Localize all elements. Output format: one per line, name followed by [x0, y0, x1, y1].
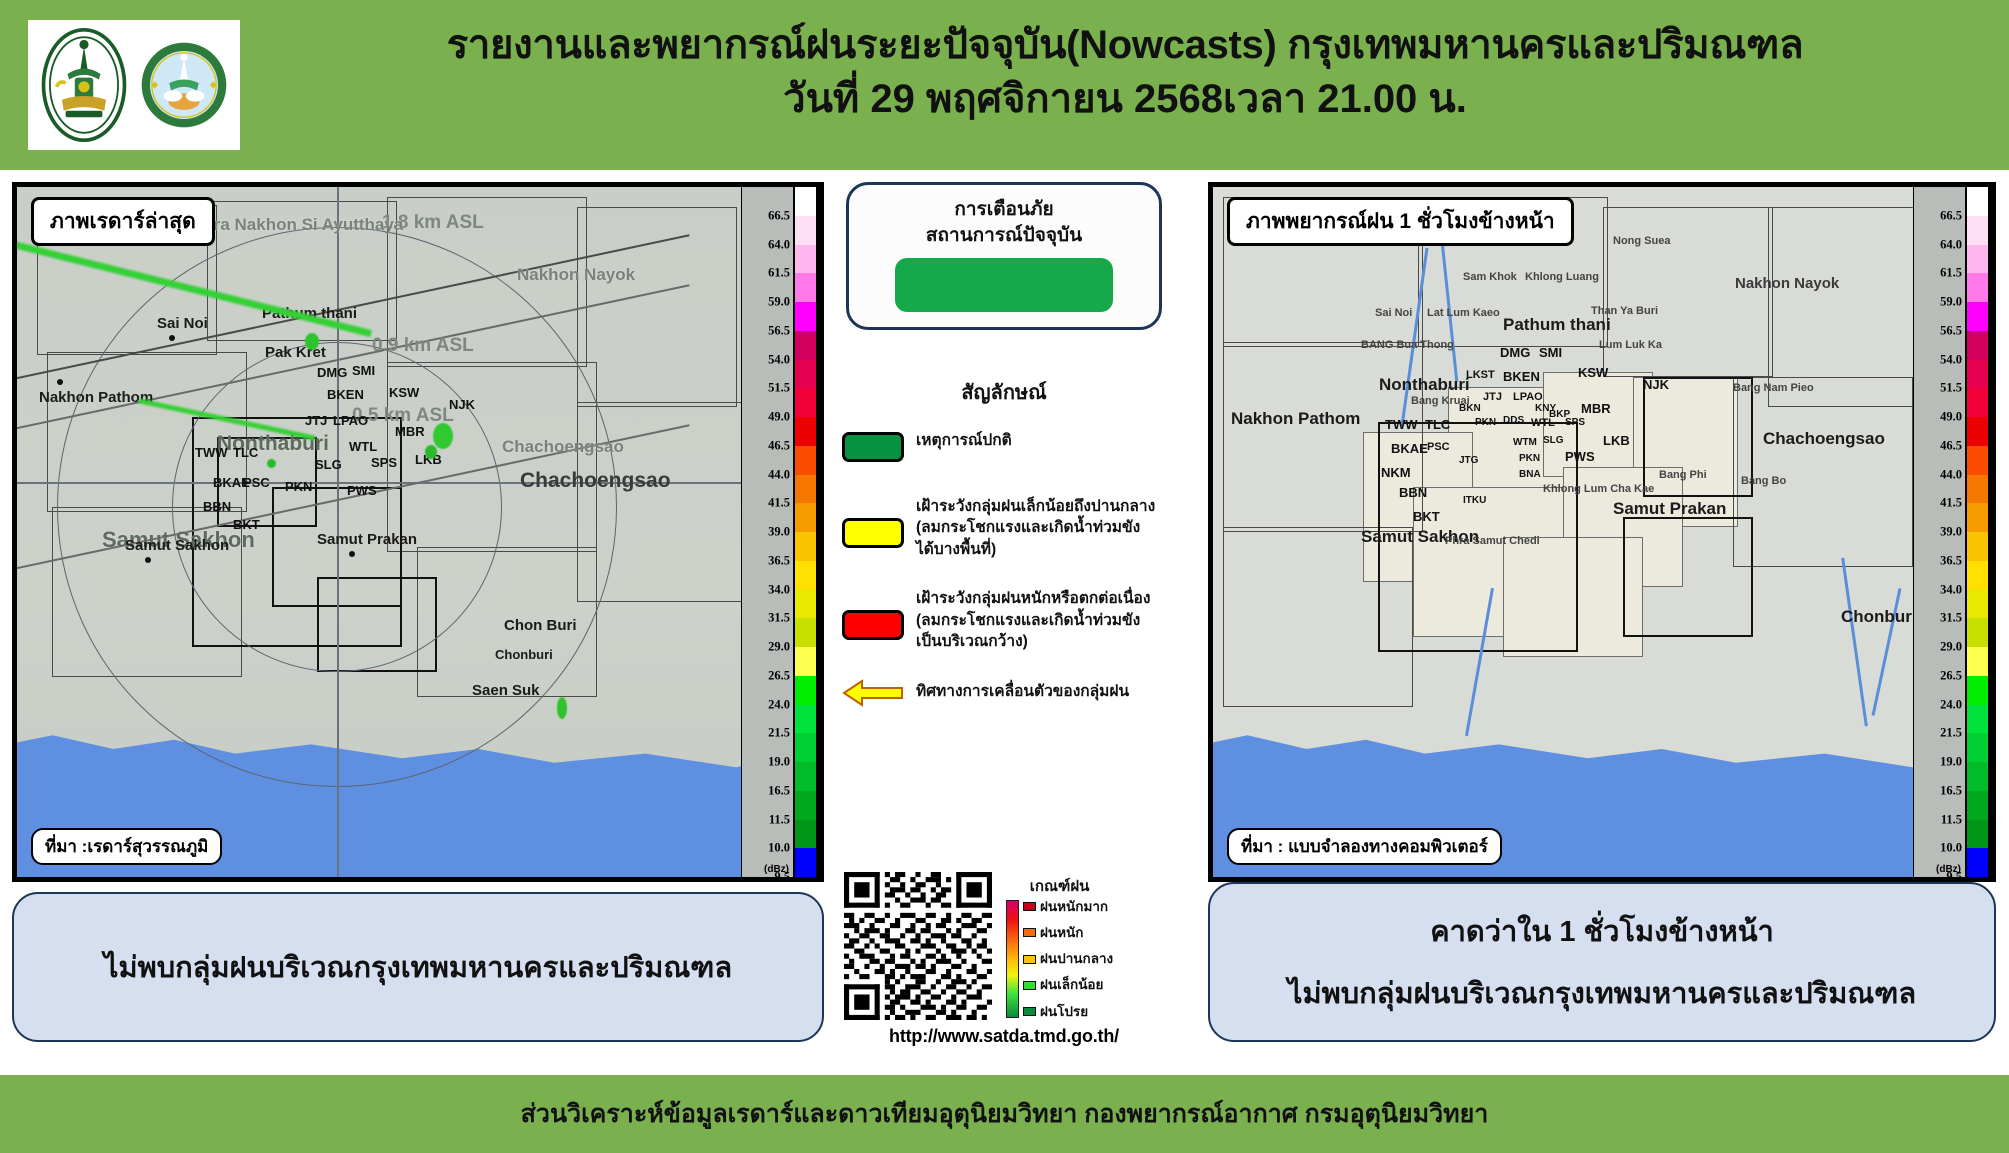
- colorbar-tick: 29.0: [768, 640, 790, 655]
- rain-criteria-label: ฝนเล็กน้อย: [1040, 978, 1103, 992]
- qr-code-icon[interactable]: [844, 872, 992, 1020]
- forecast-source-label: ที่มา : แบบจำลองทางคอมพิวเตอร์: [1227, 828, 1502, 865]
- station-code: DMG: [317, 365, 347, 380]
- forecast-summary-line-1: คาดว่าใน 1 ชั่วโมงข้างหน้า: [1430, 908, 1774, 954]
- colorbar-segment: [795, 590, 816, 619]
- colorbar-segment: [1967, 187, 1988, 216]
- colorbar-segment: [1967, 705, 1988, 734]
- colorbar-segment: [795, 360, 816, 389]
- colorbar-segment: [1967, 532, 1988, 561]
- colorbar-segment: [795, 475, 816, 504]
- city-label: Sai Noi: [157, 315, 208, 332]
- station-code: PKN: [285, 479, 312, 494]
- station-code: LKB: [1603, 433, 1630, 448]
- colorbar-segment: [795, 273, 816, 302]
- colorbar-tick: 61.5: [768, 266, 790, 281]
- city-label: Chachoengsao: [520, 469, 671, 493]
- colorbar-segment: [1967, 360, 1988, 389]
- radar-echo: [267, 459, 276, 468]
- colorbar-segment: [795, 561, 816, 590]
- colorbar-segment: [1967, 331, 1988, 360]
- station-code: TLC: [1425, 417, 1450, 432]
- main-content: 1.8 km ASL 0.9 km ASL 0.5 km ASL Suphan …: [0, 170, 2009, 1075]
- radar-colorbar: 66.564.061.559.056.554.051.549.046.544.0…: [741, 187, 819, 877]
- rain-criteria-label: ฝนโปรย: [1040, 1005, 1088, 1019]
- station-code: BKAE: [1391, 441, 1428, 456]
- title-line-2: วันที่ 29 พฤศจิกายน 2568เวลา 21.00 น.: [270, 72, 1980, 126]
- colorbar-tick: 49.0: [768, 410, 790, 425]
- province-label: Sai Noi: [1375, 307, 1412, 319]
- forecast-colorbar: 66.564.061.559.056.554.051.549.046.544.0…: [1913, 187, 1991, 877]
- station-code: PSC: [243, 475, 270, 490]
- colorbar-tick: 36.5: [768, 553, 790, 568]
- colorbar-tick: 31.5: [768, 611, 790, 626]
- page-header: รายงานและพยากรณ์ฝนระยะปัจจุบัน(Nowcasts)…: [0, 0, 2009, 170]
- legend-swatch-green: [842, 432, 904, 462]
- station-code: WTL: [349, 439, 377, 454]
- station-code: TWW: [1385, 417, 1417, 432]
- colorbar-segment: [795, 388, 816, 417]
- colorbar-tick: 10.0: [1940, 841, 1962, 856]
- website-url[interactable]: http://www.satda.tmd.go.th/: [836, 1026, 1172, 1047]
- colorbar-segment: [795, 848, 816, 877]
- colorbar-segment: [795, 820, 816, 849]
- rain-intensity-gradient-bar: [1006, 900, 1019, 1018]
- colorbar-tick: 61.5: [1940, 266, 1962, 281]
- province-label: Chachoengsao: [1763, 429, 1885, 449]
- colorbar-segment: [1967, 417, 1988, 446]
- colorbar-tick: 59.0: [768, 295, 790, 310]
- colorbar-tick: 19.0: [768, 755, 790, 770]
- colorbar-segment: [795, 733, 816, 762]
- radar-summary-box: ไม่พบกลุ่มฝนบริเวณกรุงเทพมหานครและปริมณฑ…: [12, 892, 824, 1042]
- colorbar-tick: 46.5: [768, 438, 790, 453]
- forecast-image-panel[interactable]: Suphan Buri Phra Nakhon Si Ayutthaya Non…: [1208, 182, 1996, 882]
- current-alert-card[interactable]: การเตือนภัย สถานการณ์ปัจจุบัน: [846, 182, 1162, 330]
- legend-swatch-yellow: [842, 518, 904, 548]
- province-label: Lat Lum Kaeo: [1427, 307, 1500, 319]
- colorbar-tick: 54.0: [1940, 352, 1962, 367]
- colorbar-tick: 21.5: [768, 726, 790, 741]
- station-code: TWW: [195, 445, 227, 460]
- station-code: JTJ: [1483, 391, 1502, 403]
- radar-image-panel[interactable]: 1.8 km ASL 0.9 km ASL 0.5 km ASL Suphan …: [12, 182, 824, 882]
- colorbar-tick: 24.0: [1940, 697, 1962, 712]
- royal-rainmaking-seal-icon: [38, 26, 130, 144]
- station-code: SMI: [352, 363, 375, 378]
- station-code: SPS: [1565, 417, 1585, 428]
- province-label: Nakhon Pathom: [1231, 409, 1360, 429]
- station-code: DMG: [1500, 345, 1530, 360]
- alert-status-chip: [895, 258, 1113, 312]
- colorbar-segment: [795, 216, 816, 245]
- station-code: NJK: [449, 397, 475, 412]
- station-code: PKN: [1475, 417, 1496, 428]
- colorbar-tick: 26.5: [768, 668, 790, 683]
- radar-echo: [305, 333, 319, 350]
- colorbar-tick: 56.5: [1940, 323, 1962, 338]
- province-outline: [577, 207, 737, 407]
- colorbar-strip: [793, 187, 819, 877]
- province-label: Khlong Luang: [1525, 271, 1599, 283]
- station-code: SLG: [315, 457, 342, 472]
- colorbar-tick: 21.5: [1940, 726, 1962, 741]
- alert-card-title: การเตือนภัย สถานการณ์ปัจจุบัน: [926, 197, 1082, 248]
- altitude-label-1: 1.8 km ASL: [382, 212, 484, 234]
- colorbar-segment: [1967, 475, 1988, 504]
- colorbar-unit-label: (dBz): [1936, 864, 1961, 875]
- colorbar-segment: [1967, 590, 1988, 619]
- colorbar-tick: 39.0: [1940, 525, 1962, 540]
- colorbar-tick: 39.0: [768, 525, 790, 540]
- radar-echo: [433, 423, 453, 449]
- legend-text-arrow: ทิศทางการเคลื่อนตัวของกลุ่มฝน: [916, 681, 1129, 702]
- colorbar-tick: 11.5: [1941, 812, 1962, 827]
- colorbar-segment: [1967, 446, 1988, 475]
- movement-arrow-icon: [842, 678, 904, 713]
- forecast-summary-line-2: ไม่พบกลุ่มฝนบริเวณกรุงเทพมหานครและปริมณฑ…: [1288, 970, 1916, 1016]
- rain-criteria-chip: [1023, 902, 1036, 911]
- colorbar-segment: [1967, 503, 1988, 532]
- station-code: ITKU: [1463, 495, 1486, 506]
- colorbar-tick: 64.0: [1940, 237, 1962, 252]
- colorbar-tick: 46.5: [1940, 438, 1962, 453]
- station-code: BNA: [1519, 469, 1541, 480]
- colorbar-tick: 51.5: [768, 381, 790, 396]
- colorbar-segment: [1967, 216, 1988, 245]
- station-code: SMI: [1539, 345, 1562, 360]
- colorbar-segment: [795, 676, 816, 705]
- colorbar-tick: 10.0: [768, 841, 790, 856]
- colorbar-segment: [1967, 273, 1988, 302]
- radar-summary-text: ไม่พบกลุ่มฝนบริเวณกรุงเทพมหานครและปริมณฑ…: [104, 944, 732, 990]
- colorbar-segment: [1967, 245, 1988, 274]
- colorbar-segment: [1967, 561, 1988, 590]
- colorbar-tick: 54.0: [768, 352, 790, 367]
- colorbar-tick: 19.0: [1940, 755, 1962, 770]
- station-code: DDS: [1503, 415, 1524, 426]
- colorbar-tick: 41.5: [768, 496, 790, 511]
- city-label: Samut Sakhon: [125, 537, 229, 554]
- colorbar-tick: 16.5: [768, 783, 790, 798]
- colorbar-tick: 36.5: [1940, 553, 1962, 568]
- station-code: KSW: [389, 385, 419, 400]
- radar-map[interactable]: 1.8 km ASL 0.9 km ASL 0.5 km ASL Suphan …: [17, 187, 819, 877]
- station-code: SPS: [371, 455, 397, 470]
- colorbar-tick-labels: 66.564.061.559.056.554.051.549.046.544.0…: [742, 187, 793, 877]
- province-label: Pathum thani: [1503, 315, 1611, 335]
- rain-criteria-item: ฝนหนักมาก: [1023, 900, 1113, 914]
- colorbar-tick: 16.5: [1940, 783, 1962, 798]
- radar-panel-tag: ภาพเรดาร์ล่าสุด: [31, 197, 215, 246]
- province-label: Bang Nam Pieo: [1733, 382, 1814, 394]
- province-outline: [1733, 377, 1913, 567]
- rain-criteria-label: ฝนปานกลาง: [1040, 952, 1113, 966]
- colorbar-segment: [1967, 848, 1988, 877]
- province-label: BANG Bua Thong: [1361, 339, 1454, 351]
- colorbar-segment: [795, 705, 816, 734]
- province-label: Lum Luk Ka: [1599, 339, 1662, 351]
- city-label: Chon Buri: [504, 617, 577, 634]
- colorbar-tick: 34.0: [1940, 582, 1962, 597]
- river-line: [1841, 558, 1868, 727]
- colorbar-tick: 34.0: [768, 582, 790, 597]
- colorbar-segment: [1967, 647, 1988, 676]
- legend-text-normal: เหตุการณ์ปกติ: [916, 430, 1012, 451]
- city-label: Chonburi: [495, 647, 553, 662]
- colorbar-segment: [795, 446, 816, 475]
- province-label: Nong Suea: [1613, 235, 1670, 247]
- province-label: Bang Bo: [1741, 475, 1786, 487]
- colorbar-segment: [1967, 676, 1988, 705]
- station-code: NJK: [1643, 377, 1669, 392]
- radar-source-label: ที่มา :เรดาร์สุวรรณภูมิ: [31, 828, 222, 865]
- forecast-panel-tag: ภาพพยากรณ์ฝน 1 ชั่วโมงข้างหน้า: [1227, 197, 1574, 246]
- province-label: Samut Prakan: [1613, 499, 1726, 519]
- forecast-summary-box: คาดว่าใน 1 ชั่วโมงข้างหน้า ไม่พบกลุ่มฝนบ…: [1208, 882, 1996, 1042]
- province-label: Bang Phi: [1659, 469, 1707, 481]
- city-dot: [145, 557, 151, 563]
- colorbar-tick: 41.5: [1940, 496, 1962, 511]
- rain-criteria-label: ฝนหนักมาก: [1040, 900, 1108, 914]
- station-code: PSC: [1427, 441, 1450, 453]
- qr-and-rain-scale-block: เกณฑ์ฝน ฝนหนักมากฝนหนักฝนปานกลางฝนเล็กน้…: [836, 872, 1172, 1047]
- colorbar-segment: [795, 647, 816, 676]
- legend-text-yellow: เฝ้าระวังกลุ่มฝนเล็กน้อยถึงปานกลาง (ลมกร…: [916, 496, 1155, 560]
- district-outline: [1623, 517, 1753, 637]
- colorbar-segment: [1967, 733, 1988, 762]
- colorbar-tick: 66.5: [768, 208, 790, 223]
- colorbar-segment: [1967, 791, 1988, 820]
- province-label: Chonburi: [1841, 607, 1917, 627]
- rain-criteria-item: ฝนเล็กน้อย: [1023, 978, 1113, 992]
- rain-criteria-items: ฝนหนักมากฝนหนักฝนปานกลางฝนเล็กน้อยฝนโปรย: [1023, 900, 1113, 1018]
- rain-criteria-title: เกณฑ์ฝน: [1006, 874, 1113, 898]
- legend-row-yellow: เฝ้าระวังกลุ่มฝนเล็กน้อยถึงปานกลาง (ลมกร…: [836, 496, 1172, 560]
- colorbar-tick: 49.0: [1940, 410, 1962, 425]
- station-code: LKST: [1466, 369, 1495, 381]
- title-line-1: รายงานและพยากรณ์ฝนระยะปัจจุบัน(Nowcasts)…: [270, 18, 1980, 72]
- colorbar-segment: [1967, 388, 1988, 417]
- city-dot: [57, 379, 63, 385]
- legend-row-normal: เหตุการณ์ปกติ: [836, 430, 1172, 462]
- center-column: การเตือนภัย สถานการณ์ปัจจุบัน สัญลักษณ์ …: [836, 182, 1172, 1062]
- colorbar-segment: [795, 302, 816, 331]
- station-code: BBN: [203, 499, 231, 514]
- colorbar-segment: [795, 331, 816, 360]
- footer-text: ส่วนวิเคราะห์ข้อมูลเรดาร์และดาวเทียมอุตุ…: [521, 1094, 1489, 1134]
- legend-swatch-red: [842, 610, 904, 640]
- colorbar-segment: [1967, 618, 1988, 647]
- colorbar-tick: 24.0: [768, 697, 790, 712]
- province-label: Khlong Lum Cha Kae: [1543, 483, 1654, 495]
- province-label: Phra Samut Chedi: [1445, 535, 1540, 547]
- station-code: TLC: [233, 445, 258, 460]
- station-code: BKEN: [327, 387, 364, 402]
- thai-meteorological-department-seal-icon: [138, 26, 230, 144]
- radar-echo: [557, 697, 567, 719]
- station-code: JTG: [1459, 455, 1478, 466]
- legend-row-arrow: ทิศทางการเคลื่อนตัวของกลุ่มฝน: [836, 676, 1172, 713]
- colorbar-tick: 44.0: [1940, 467, 1962, 482]
- province-label: Nakhon Nayok: [1735, 275, 1839, 292]
- rain-criteria-label: ฝนหนัก: [1040, 926, 1083, 940]
- colorbar-segment: [795, 762, 816, 791]
- station-code: PWS: [347, 483, 377, 498]
- city-label: Saen Suk: [472, 682, 540, 699]
- station-code: KSW: [1578, 365, 1608, 380]
- rain-criteria-chip: [1023, 928, 1036, 937]
- page-title: รายงานและพยากรณ์ฝนระยะปัจจุบัน(Nowcasts)…: [270, 18, 1980, 126]
- logo-container: [28, 20, 240, 150]
- colorbar-segment: [795, 503, 816, 532]
- colorbar-tick-labels: 66.564.061.559.056.554.051.549.046.544.0…: [1914, 187, 1965, 877]
- colorbar-tick: 11.5: [769, 812, 790, 827]
- colorbar-segment: [795, 618, 816, 647]
- colorbar-segment: [1967, 302, 1988, 331]
- page-footer: ส่วนวิเคราะห์ข้อมูลเรดาร์และดาวเทียมอุตุ…: [0, 1075, 2009, 1153]
- station-code: PWS: [1565, 449, 1595, 464]
- station-code: BKT: [1413, 509, 1440, 524]
- colorbar-tick: 64.0: [768, 237, 790, 252]
- station-code: LPAO: [333, 413, 368, 428]
- rain-criteria-chip: [1023, 981, 1036, 990]
- colorbar-tick: 59.0: [1940, 295, 1962, 310]
- city-dot: [349, 551, 355, 557]
- altitude-label-2: 0.9 km ASL: [372, 335, 474, 357]
- colorbar-segment: [795, 532, 816, 561]
- station-code: BKN: [1459, 403, 1481, 414]
- station-code: WTM: [1513, 437, 1537, 448]
- colorbar-strip: [1965, 187, 1991, 877]
- station-code: SLG: [1543, 435, 1564, 446]
- colorbar-segment: [795, 791, 816, 820]
- station-code: BBN: [1399, 485, 1427, 500]
- station-code: JTJ: [305, 413, 327, 428]
- province-outline: [1603, 207, 1773, 377]
- rain-criteria-item: ฝนปานกลาง: [1023, 952, 1113, 966]
- city-label: Nakhon Pathom: [39, 389, 153, 406]
- station-code: BKT: [233, 517, 260, 532]
- colorbar-segment: [795, 187, 816, 216]
- legend-text-red: เฝ้าระวังกลุ่มฝนหนักหรือตกต่อเนื่อง (ลมก…: [916, 588, 1150, 652]
- colorbar-segment: [1967, 820, 1988, 849]
- rain-criteria-chip: [1023, 1007, 1036, 1016]
- colorbar-tick: 66.5: [1940, 208, 1962, 223]
- colorbar-tick: 26.5: [1940, 668, 1962, 683]
- rain-criteria-legend: เกณฑ์ฝน ฝนหนักมากฝนหนักฝนปานกลางฝนเล็กน้…: [1006, 872, 1113, 1018]
- station-code: PKN: [1519, 453, 1540, 464]
- colorbar-segment: [795, 245, 816, 274]
- colorbar-tick: 31.5: [1940, 611, 1962, 626]
- city-dot: [169, 335, 175, 341]
- rain-criteria-chip: [1023, 955, 1036, 964]
- colorbar-tick: 56.5: [768, 323, 790, 338]
- colorbar-tick: 51.5: [1940, 381, 1962, 396]
- forecast-map[interactable]: Suphan Buri Phra Nakhon Si Ayutthaya Non…: [1213, 187, 1991, 877]
- province-label: Sam Khok: [1463, 271, 1517, 283]
- alert-title-line-2: สถานการณ์ปัจจุบัน: [926, 223, 1082, 249]
- colorbar-unit-label: (dBz): [764, 864, 789, 875]
- station-code: BKEN: [1503, 369, 1540, 384]
- colorbar-segment: [795, 417, 816, 446]
- alert-title-line-1: การเตือนภัย: [926, 197, 1082, 223]
- city-label: Samut Prakan: [317, 531, 417, 548]
- station-code: NKM: [1381, 465, 1411, 480]
- station-code: MBR: [395, 424, 425, 439]
- colorbar-tick: 44.0: [768, 467, 790, 482]
- colorbar-segment: [1967, 762, 1988, 791]
- province-label: Nonthaburi: [1379, 375, 1470, 395]
- rain-criteria-item: ฝนโปรย: [1023, 1005, 1113, 1019]
- rain-criteria-item: ฝนหนัก: [1023, 926, 1113, 940]
- colorbar-tick: 29.0: [1940, 640, 1962, 655]
- symbols-section-title: สัญลักษณ์: [836, 376, 1172, 408]
- radar-echo: [425, 445, 437, 459]
- station-code: LPAO: [1513, 391, 1543, 403]
- station-code: MBR: [1581, 401, 1611, 416]
- legend-row-red: เฝ้าระวังกลุ่มฝนหนักหรือตกต่อเนื่อง (ลมก…: [836, 588, 1172, 652]
